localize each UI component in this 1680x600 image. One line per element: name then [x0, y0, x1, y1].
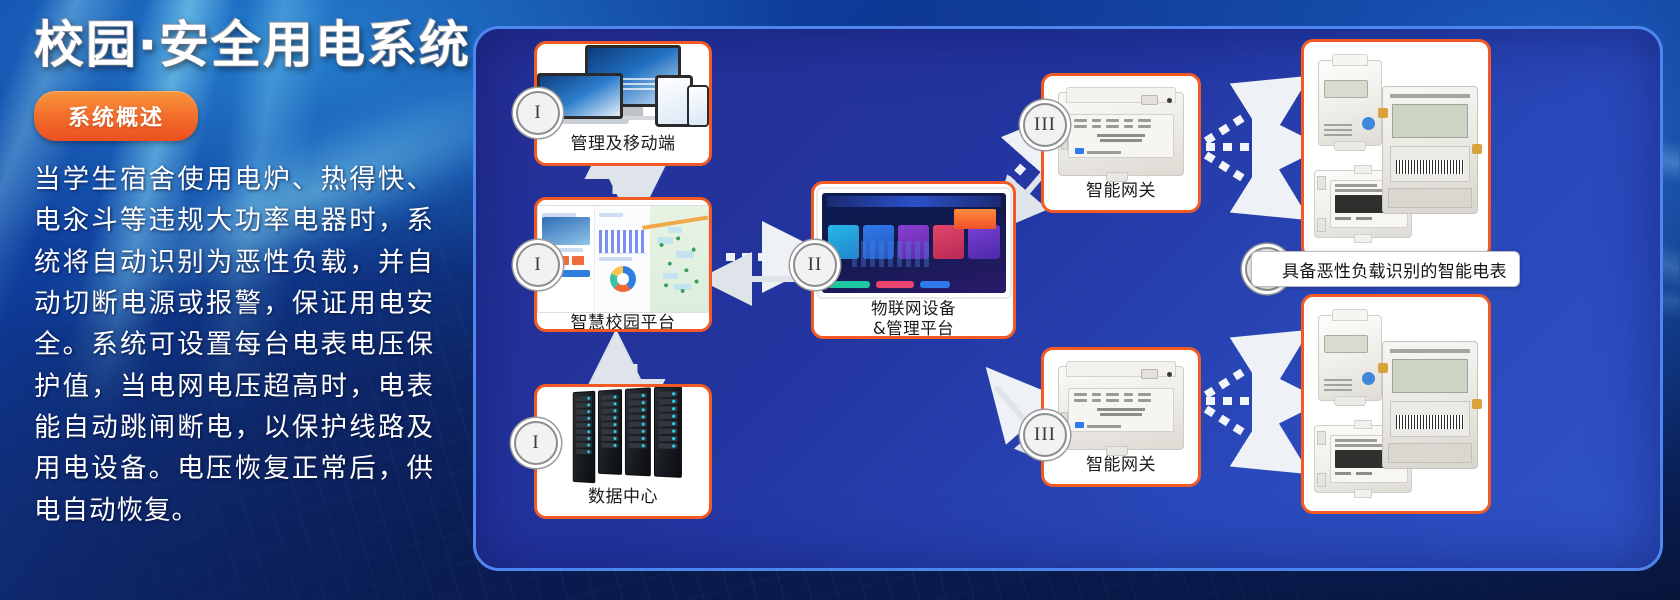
page-title: 校园·安全用电系统	[34, 18, 446, 73]
badge-roman-1-admin: I	[516, 91, 560, 135]
three-phase-meter-icon	[1382, 341, 1478, 469]
node-data-center[interactable]: 数据中心	[534, 384, 712, 519]
server-racks-icon	[537, 387, 709, 487]
connector-gateway-bottom-meters	[1206, 351, 1284, 453]
gateway-device-icon	[1044, 76, 1198, 181]
node-label-gateway-bottom: 智能网关	[1082, 455, 1160, 484]
node-smart-gateway-bottom[interactable]: 智能网关	[1041, 347, 1201, 487]
node-label-iot-line1: 物联网设备	[867, 299, 960, 319]
callout-smart-meter-malicious-load[interactable]: 具备恶性负载识别的智能电表	[1251, 251, 1520, 287]
badge-roman-3-gateway-bottom: III	[1023, 413, 1067, 457]
meter-panel-top[interactable]	[1301, 39, 1491, 259]
node-iot-management-platform[interactable]: 物联网设备 &管理平台	[811, 181, 1016, 339]
overview-column: 校园·安全用电系统 系统概述 当学生宿舍使用电炉、热得快、电汆斗等违规大功率电器…	[0, 0, 470, 600]
gateway-device-icon	[1044, 350, 1198, 455]
node-label-admin-mobile: 管理及移动端	[567, 134, 680, 163]
three-phase-meter-icon	[1382, 86, 1478, 214]
connector-campus-iot	[726, 257, 796, 279]
node-label-smart-campus-platform: 智慧校园平台	[567, 313, 680, 332]
overview-description-text: 当学生宿舍使用电炉、热得快、电汆斗等违规大功率电器时，系统将自动识别为恶性负载，…	[34, 159, 434, 531]
section-badge-system-overview: 系统概述	[34, 91, 198, 141]
node-label-gateway-top: 智能网关	[1082, 181, 1160, 210]
single-phase-din-meter-icon	[1318, 315, 1382, 401]
badge-roman-1-campus: I	[516, 243, 560, 287]
single-phase-din-meter-icon	[1318, 60, 1382, 146]
connector-gateway-top-meters	[1206, 97, 1284, 199]
iot-tablet-icon	[814, 184, 1013, 299]
node-smart-campus-platform[interactable]: 智慧校园平台	[534, 197, 712, 332]
node-admin-mobile[interactable]: 管理及移动端	[534, 41, 712, 166]
meter-panel-bottom[interactable]	[1301, 294, 1491, 514]
node-smart-gateway-top[interactable]: 智能网关	[1041, 73, 1201, 213]
architecture-diagram-panel: 管理及移动端 I	[473, 26, 1663, 571]
badge-roman-2-iot: II	[793, 243, 837, 287]
devices-multi-icon	[537, 44, 709, 134]
badge-roman-1-datacenter: I	[514, 421, 558, 465]
node-label-data-center: 数据中心	[584, 487, 662, 516]
callout-text: 具备恶性负载识别的智能电表	[1282, 257, 1507, 282]
node-label-iot-line2: &管理平台	[869, 319, 958, 339]
dashboard-map-icon	[537, 200, 709, 313]
badge-roman-3-gateway-top: III	[1023, 103, 1067, 147]
